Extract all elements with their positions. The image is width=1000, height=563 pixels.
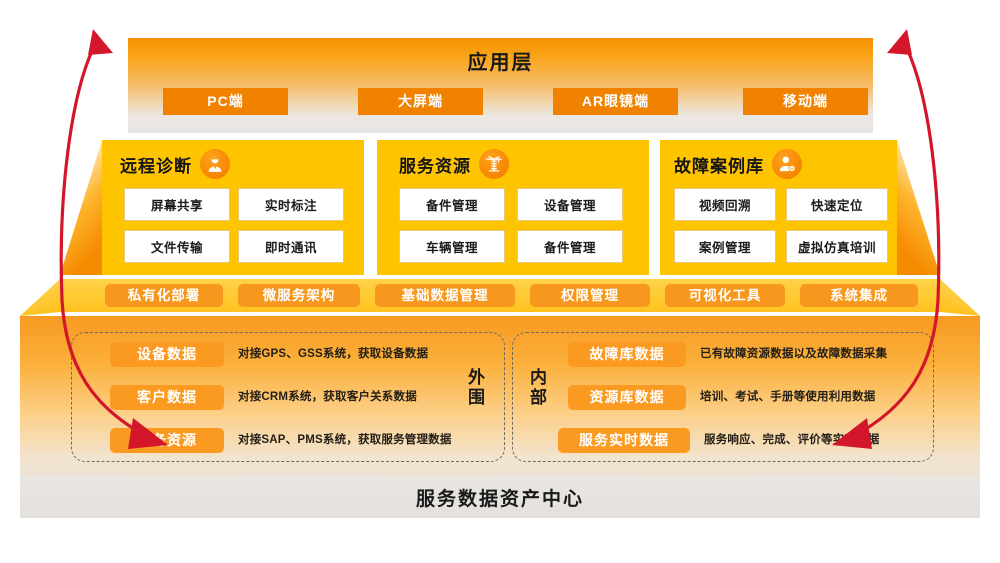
cell-spare-parts-management-2[interactable]: 备件管理 bbox=[517, 230, 623, 263]
tower-crane-icon bbox=[479, 149, 509, 179]
cell-equipment-management[interactable]: 设备管理 bbox=[517, 188, 623, 221]
cell-spare-parts-management[interactable]: 备件管理 bbox=[399, 188, 505, 221]
architecture-diagram: 应用层 PC端 大屏端 AR眼镜端 移动端 远程诊断 bbox=[0, 0, 1000, 563]
cell-vehicle-management[interactable]: 车辆管理 bbox=[399, 230, 505, 263]
pill-microservice-architecture[interactable]: 微服务架构 bbox=[238, 284, 360, 307]
data-tag-customer-data[interactable]: 客户数据 bbox=[110, 385, 224, 410]
outer-group-label-line2: 围 bbox=[468, 388, 486, 407]
data-desc-service-realtime-data: 服务响应、完成、评价等实时数据 bbox=[704, 428, 880, 453]
cell-realtime-annotation[interactable]: 实时标注 bbox=[238, 188, 344, 221]
data-desc-customer-data: 对接CRM系统，获取客户关系数据 bbox=[238, 385, 417, 410]
cell-virtual-simulation-training[interactable]: 虚拟仿真培训 bbox=[786, 230, 888, 263]
cell-file-transfer[interactable]: 文件传输 bbox=[124, 230, 230, 263]
panel-service-resources: 服务资源 备件管理 设备管理 bbox=[377, 140, 649, 275]
panel-service-resources-header: 服务资源 bbox=[399, 148, 509, 180]
data-desc-resource-library-data: 培训、考试、手册等使用利用数据 bbox=[700, 385, 876, 410]
pill-permission-management[interactable]: 权限管理 bbox=[530, 284, 650, 307]
panel-fault-case-library-header: 故障案例库 bbox=[674, 148, 802, 180]
pill-system-integration[interactable]: 系统集成 bbox=[800, 284, 918, 307]
service-data-asset-base: 外 围 设备数据 对接GPS、GSS系统，获取设备数据 客户数据 对接CRM系统… bbox=[20, 316, 980, 476]
panel-fault-case-library: 故障案例库 视频回溯 快速定位 案例管理 虚拟仿真培训 bbox=[660, 140, 897, 275]
data-tag-service-resources[interactable]: 服务资源 bbox=[110, 428, 224, 453]
data-desc-service-resources: 对接SAP、PMS系统，获取服务管理数据 bbox=[238, 428, 452, 453]
cell-video-playback[interactable]: 视频回溯 bbox=[674, 188, 776, 221]
capability-panel-band: 远程诊断 屏幕共享 实时标注 文件传输 即时通讯 bbox=[102, 140, 897, 275]
app-button-mobile[interactable]: 移动端 bbox=[743, 88, 868, 115]
panel-remote-diagnosis-header: 远程诊断 bbox=[120, 148, 230, 180]
data-tag-resource-library-data[interactable]: 资源库数据 bbox=[568, 385, 686, 410]
inner-group-label-line2: 部 bbox=[530, 388, 548, 407]
panel-fault-case-library-title: 故障案例库 bbox=[674, 152, 764, 177]
application-layer: 应用层 PC端 大屏端 AR眼镜端 移动端 bbox=[128, 38, 873, 133]
panel-remote-diagnosis: 远程诊断 屏幕共享 实时标注 文件传输 即时通讯 bbox=[102, 140, 364, 275]
application-layer-buttons: PC端 大屏端 AR眼镜端 移动端 bbox=[128, 88, 873, 116]
data-tag-service-realtime-data[interactable]: 服务实时数据 bbox=[558, 428, 690, 453]
outer-group-label-line1: 外 bbox=[468, 368, 486, 387]
inner-group-label: 内 部 bbox=[522, 368, 556, 408]
outer-group-label: 外 围 bbox=[460, 368, 494, 408]
app-button-large-screen[interactable]: 大屏端 bbox=[358, 88, 483, 115]
cell-instant-messaging[interactable]: 即时通讯 bbox=[238, 230, 344, 263]
cell-quick-location[interactable]: 快速定位 bbox=[786, 188, 888, 221]
footer-title: 服务数据资产中心 bbox=[20, 484, 980, 511]
data-tag-equipment-data[interactable]: 设备数据 bbox=[110, 342, 224, 367]
doctor-avatar-icon bbox=[200, 149, 230, 179]
data-tag-fault-library-data[interactable]: 故障库数据 bbox=[568, 342, 686, 367]
inner-group-label-line1: 内 bbox=[530, 368, 548, 387]
cell-screen-share[interactable]: 屏幕共享 bbox=[124, 188, 230, 221]
app-button-pc[interactable]: PC端 bbox=[163, 88, 288, 115]
cell-case-management[interactable]: 案例管理 bbox=[674, 230, 776, 263]
panel-remote-diagnosis-title: 远程诊断 bbox=[120, 152, 192, 177]
panel-service-resources-title: 服务资源 bbox=[399, 152, 471, 177]
user-gear-icon bbox=[772, 149, 802, 179]
pill-visualization-tools[interactable]: 可视化工具 bbox=[665, 284, 785, 307]
app-button-ar-glasses[interactable]: AR眼镜端 bbox=[553, 88, 678, 115]
application-layer-title: 应用层 bbox=[128, 46, 873, 75]
pill-basic-data-management[interactable]: 基础数据管理 bbox=[375, 284, 515, 307]
data-desc-fault-library-data: 已有故障资源数据以及故障数据采集 bbox=[700, 342, 887, 367]
platform-capability-strip: 私有化部署 微服务架构 基础数据管理 权限管理 可视化工具 系统集成 bbox=[60, 279, 940, 312]
data-desc-equipment-data: 对接GPS、GSS系统，获取设备数据 bbox=[238, 342, 428, 367]
pill-private-deployment[interactable]: 私有化部署 bbox=[105, 284, 223, 307]
